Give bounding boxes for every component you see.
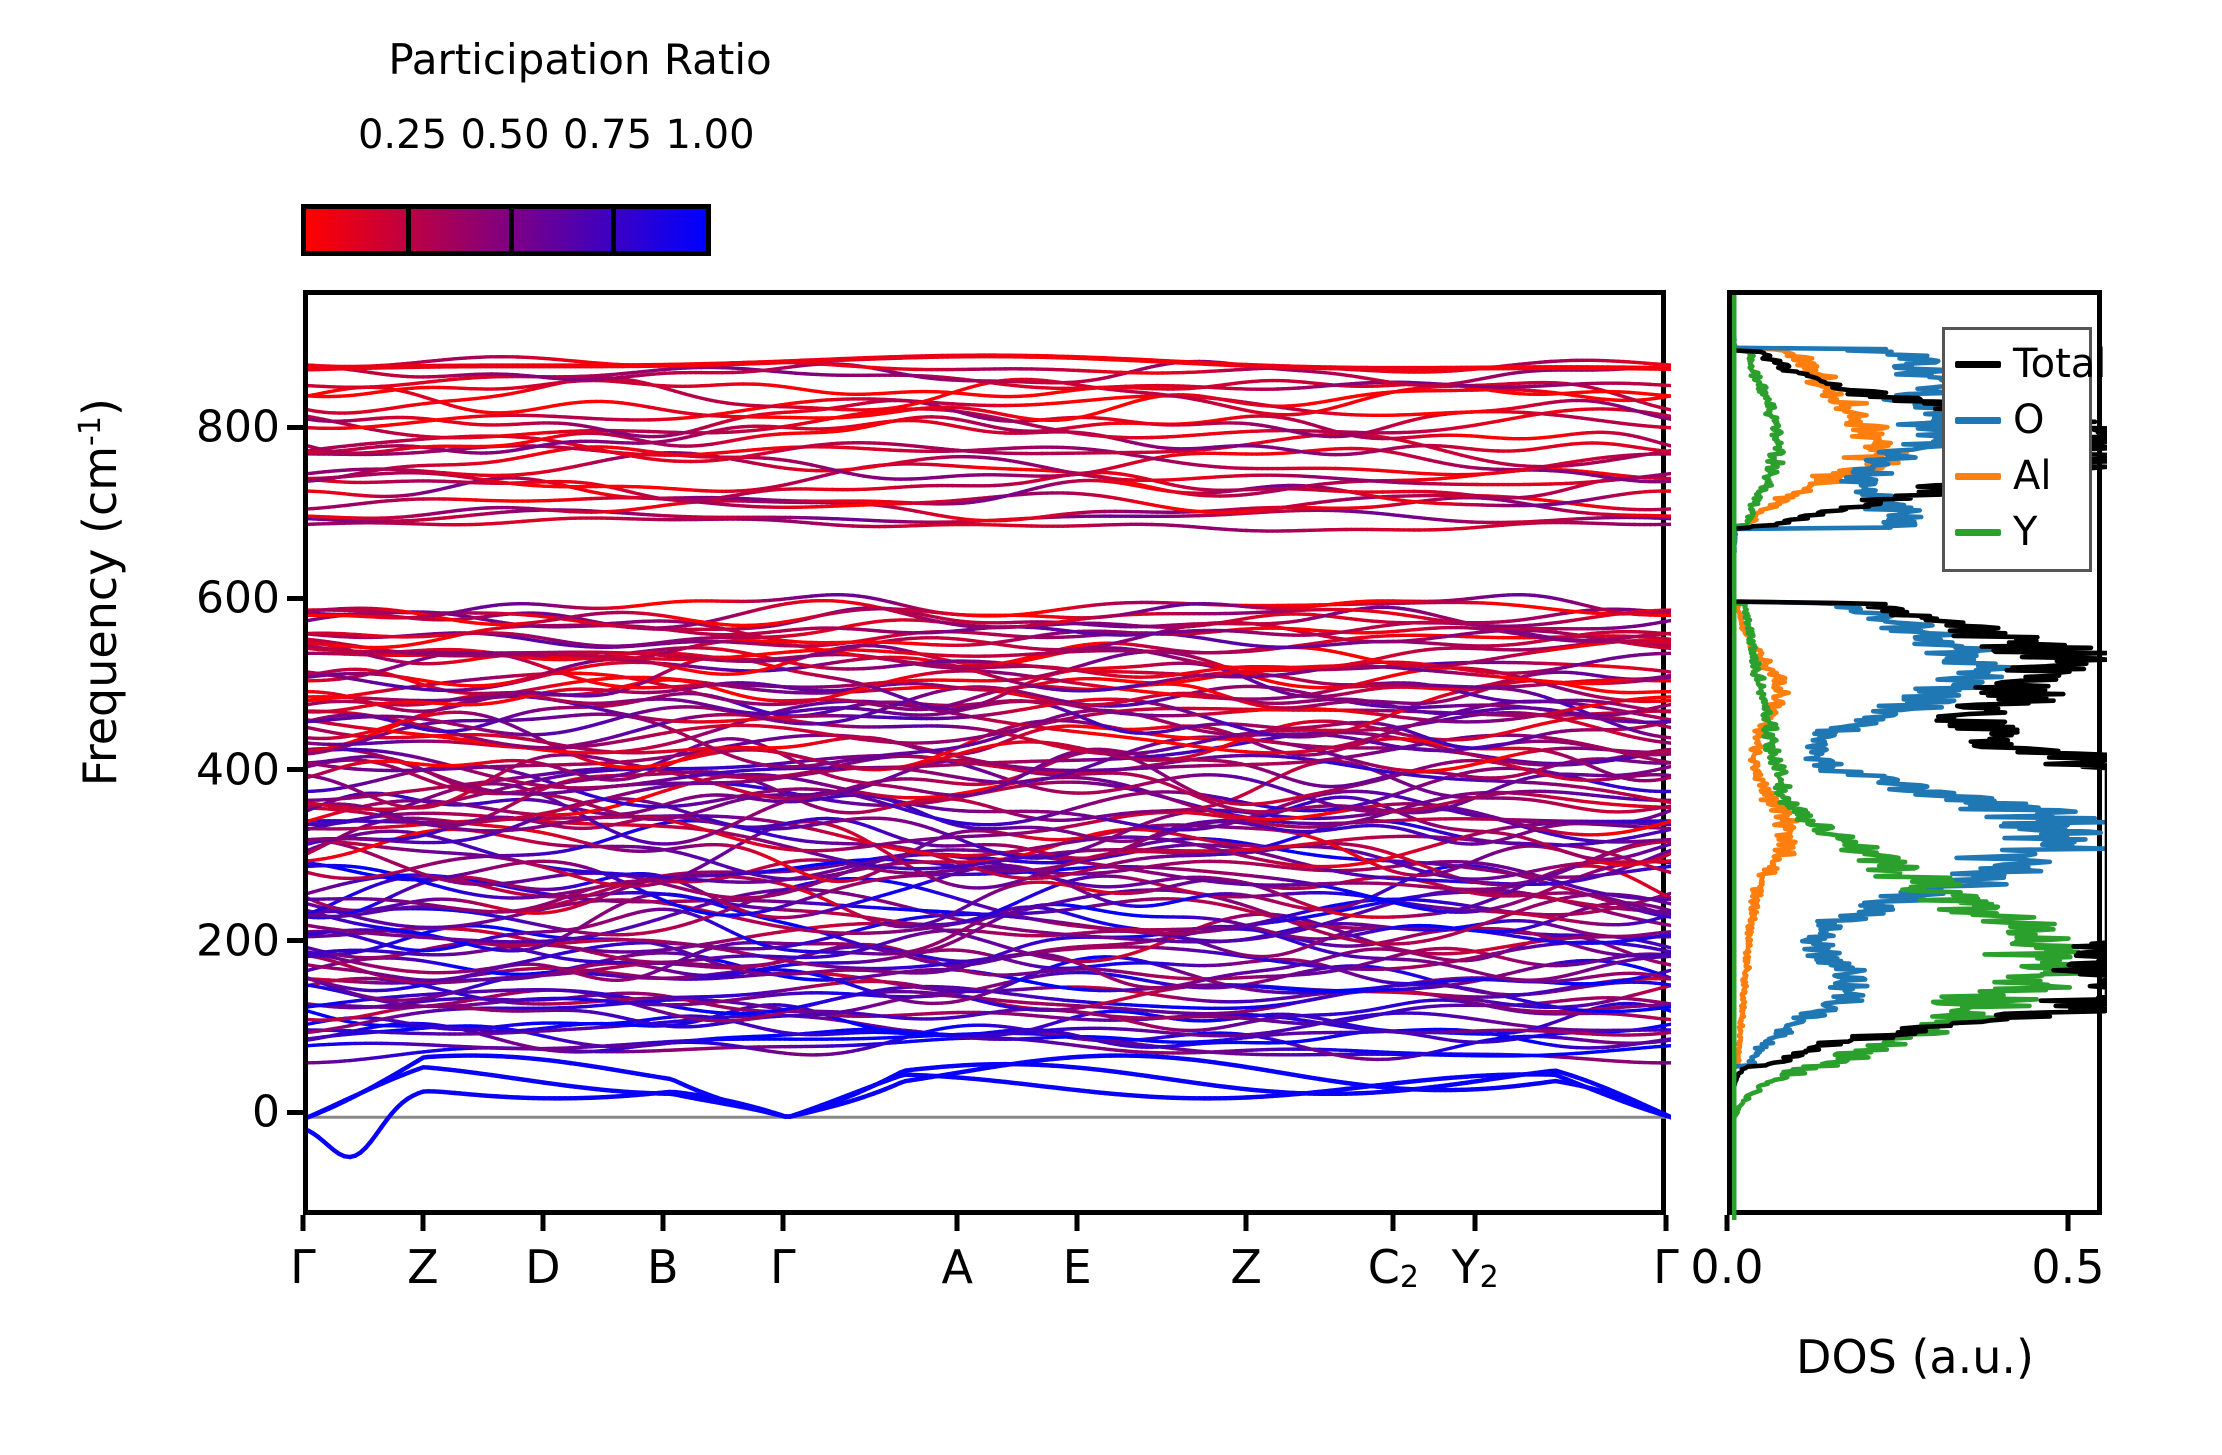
frequency-tick-label-800: 800 [196, 402, 280, 453]
colorbar-tick-label-0.50: 0.50 [460, 112, 549, 158]
kpath-label-text: Z [1230, 1240, 1262, 1294]
kpath-label-text: B [647, 1240, 679, 1294]
legend-label-al: Al [2013, 456, 2051, 496]
kpath-label-text: Y [1452, 1240, 1480, 1294]
kpath-label-text: C [1368, 1240, 1400, 1294]
legend-item-o: O [1955, 392, 2079, 448]
dos-legend: TotalOAlY [1942, 327, 2092, 572]
dos-tick-label-0.0: 0.0 [1690, 1240, 1763, 1294]
colorbar-tick-label-1.00: 1.00 [665, 112, 754, 158]
legend-label-o: O [2013, 400, 2044, 440]
frequency-tick-0 [287, 1110, 303, 1115]
legend-item-y: Y [1955, 504, 2079, 560]
dos-axis-label: DOS (a.u.) [1660, 1330, 2170, 1384]
kpath-tick-label-9: Y2 [1452, 1240, 1499, 1295]
dos-tick-marks [0, 1215, 2222, 1237]
kpath-tick-label-6: E [1063, 1240, 1092, 1294]
dos-tick-labels: 0.00.5 [1600, 1240, 2220, 1310]
frequency-tick-label-400: 400 [196, 744, 280, 795]
frequency-tick-200 [287, 938, 303, 943]
kpath-tick-label-5: A [942, 1240, 973, 1294]
band-structure-plot [308, 295, 1671, 1220]
legend-swatch-y [1955, 529, 2001, 536]
colorbar-gradient [306, 209, 706, 251]
kpath-label-text: Z [407, 1240, 439, 1294]
kpath-label-text: D [525, 1240, 560, 1294]
frequency-tick-400 [287, 767, 303, 772]
kpath-tick-label-4: Γ [770, 1240, 796, 1294]
dos-tick-0.0 [1725, 1215, 1730, 1231]
colorbar-tick-0.75 [611, 209, 616, 251]
kpath-label-sub: 2 [1400, 1260, 1419, 1295]
participation-ratio-colorbar [301, 204, 711, 256]
frequency-tick-label-600: 600 [196, 573, 280, 624]
kpath-label-sub: 2 [1480, 1260, 1499, 1295]
colorbar-tick-label-0.25: 0.25 [358, 112, 447, 158]
kpath-label-text: A [942, 1240, 973, 1294]
colorbar-tick-0.25 [406, 209, 411, 251]
legend-label-total: Total [2013, 344, 2106, 384]
colorbar-tick-labels: 0.250.500.751.00 [300, 112, 720, 162]
frequency-tick-label-0: 0 [252, 1087, 280, 1138]
legend-swatch-total [1955, 361, 2001, 368]
kpath-tick-label-8: C2 [1368, 1240, 1419, 1295]
kpath-tick-label-0: Γ [290, 1240, 316, 1294]
phonon-band-structure-panel [303, 290, 1666, 1215]
frequency-tick-600 [287, 596, 303, 601]
frequency-tick-800 [287, 425, 303, 430]
legend-item-al: Al [1955, 448, 2079, 504]
dos-tick-label-0.5: 0.5 [2031, 1240, 2104, 1294]
frequency-tick-label-200: 200 [196, 915, 280, 966]
kpath-tick-label-7: Z [1230, 1240, 1262, 1294]
colorbar-title: Participation Ratio [300, 34, 860, 86]
kpath-label-text: Γ [770, 1240, 796, 1294]
legend-item-total: Total [1955, 336, 2079, 392]
dos-tick-0.5 [2065, 1215, 2070, 1231]
colorbar-tick-0.50 [509, 209, 514, 251]
figure-canvas: Participation Ratio 0.250.500.751.00 Fre… [0, 0, 2222, 1455]
legend-swatch-al [1955, 473, 2001, 480]
colorbar-tick-label-0.75: 0.75 [563, 112, 652, 158]
kpath-tick-label-2: D [525, 1240, 560, 1294]
kpath-label-text: E [1063, 1240, 1092, 1294]
kpath-tick-label-1: Z [407, 1240, 439, 1294]
legend-swatch-o [1955, 417, 2001, 424]
legend-label-y: Y [2013, 512, 2037, 552]
kpath-tick-label-3: B [647, 1240, 679, 1294]
kpath-label-text: Γ [290, 1240, 316, 1294]
